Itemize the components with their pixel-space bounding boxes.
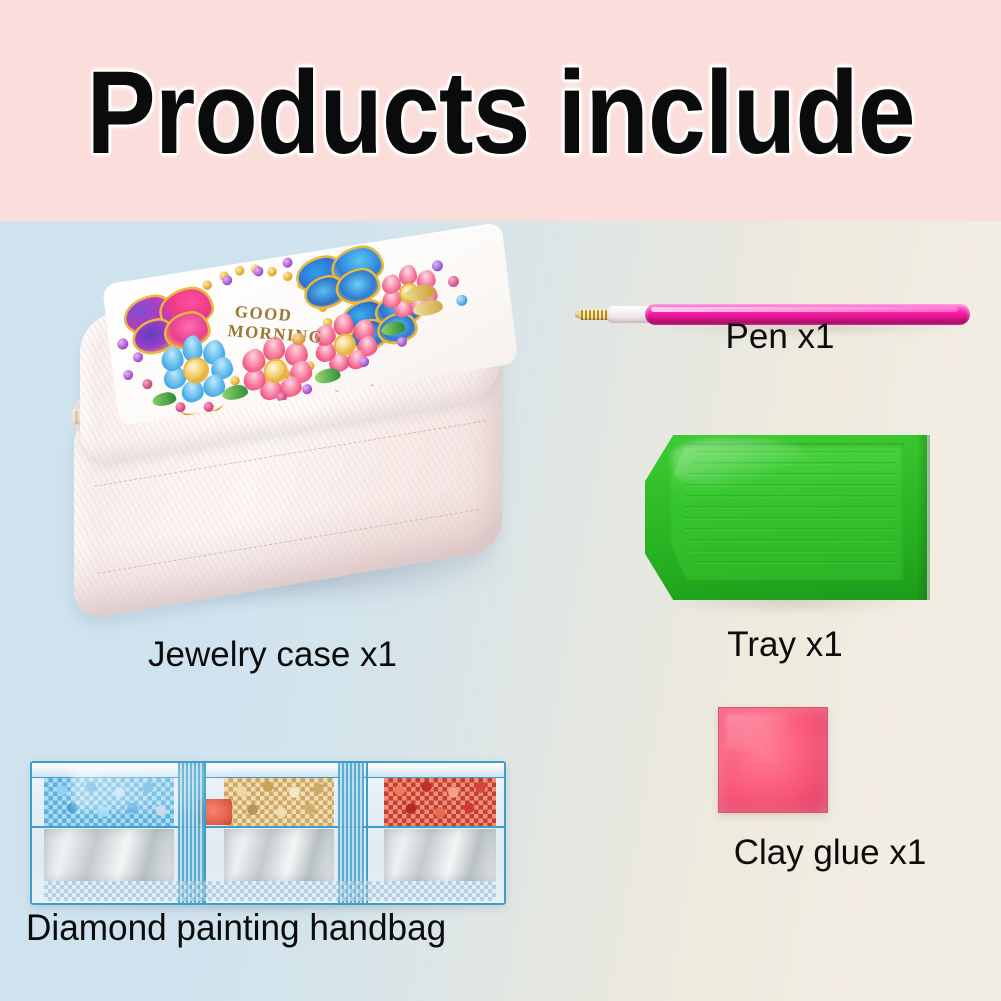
- leaf: [152, 391, 177, 408]
- page-title: Products include: [86, 54, 914, 172]
- caption-pen: Pen x1: [600, 317, 960, 357]
- handbag-plastic-sheen: [72, 767, 292, 811]
- product-infographic: Products include: [0, 0, 1001, 1001]
- foil-packet-1: [44, 829, 174, 881]
- header-band: Products include: [0, 0, 1001, 221]
- handbag-divider-horizontal: [32, 826, 504, 828]
- product-clay-glue: [718, 707, 838, 827]
- handbag-body: [30, 761, 506, 905]
- drills-red: [384, 778, 496, 826]
- foil-packet-3: [384, 829, 496, 881]
- product-jewelry-case: GOOD MORNING: [62, 277, 532, 622]
- drills-bottom-strip: [44, 881, 496, 901]
- clay-glue-sheen: [726, 714, 786, 750]
- caption-tray: Tray x1: [620, 625, 950, 665]
- foil-packet-2: [224, 829, 334, 881]
- product-grid: GOOD MORNING Jewelry case x1 Pen x1: [0, 221, 1001, 1001]
- pen-highlight: [651, 307, 958, 312]
- product-diamond-painting-handbag: [30, 761, 510, 911]
- caption-jewelry-case: Jewelry case x1: [0, 635, 545, 675]
- clay-glue-block: [718, 707, 828, 813]
- caption-clay-glue: Clay glue x1: [660, 833, 1000, 873]
- product-tray: [640, 429, 935, 609]
- caption-diamond-painting-handbag: Diamond painting handbag: [26, 907, 520, 949]
- tray-right-edge: [918, 435, 930, 600]
